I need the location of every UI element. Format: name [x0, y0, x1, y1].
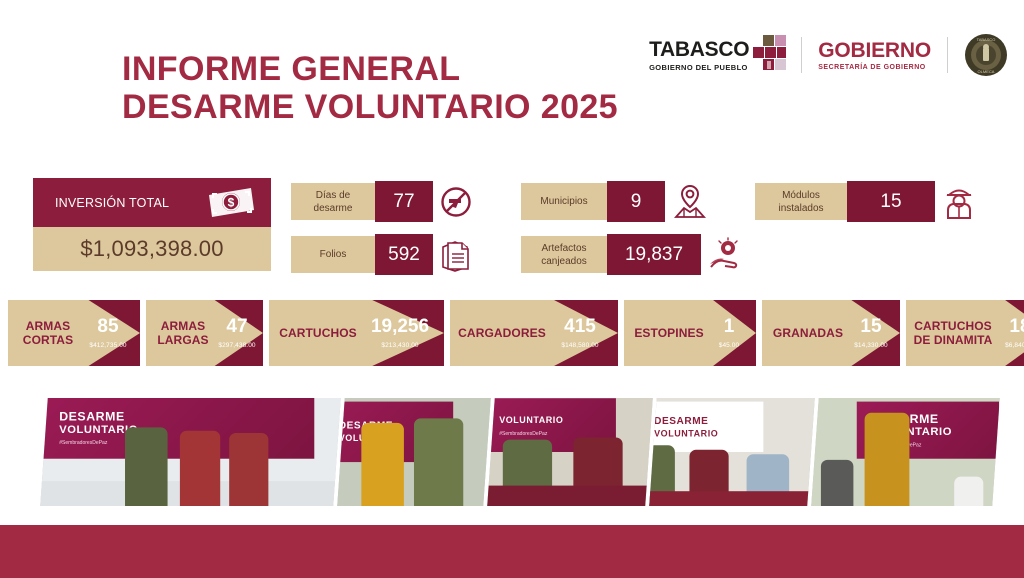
figure-worker-orange	[361, 423, 404, 506]
chart-amount: $297,438.00	[218, 342, 255, 349]
page-title: INFORME GENERAL DESARME VOLUNTARIO 2025	[122, 50, 618, 126]
chart-amount: $213,430.00	[381, 342, 418, 349]
chart-segment: CARTUCHOS 19,256 $213,430.00	[269, 300, 444, 366]
kpi-value: 9	[607, 181, 665, 222]
photo-mascot-module: DESARME VOLUNTARIO	[337, 398, 491, 506]
logo-bar: TABASCO GOBIERNO DEL PUEBLO GOB	[649, 26, 1008, 84]
chart-amount: $14,330.00	[854, 342, 888, 349]
photo-banner: DESARME VOLUNTARIO #SembradoresDePaz	[40, 398, 315, 459]
table-surface	[487, 486, 653, 506]
gobierno-logo: GOBIERNO SECRETARÍA DE GOBIERNO	[802, 40, 947, 71]
weapons-chart: ARMAS CORTAS 85 $412,735.00 ARMAS LARGAS…	[8, 300, 1024, 366]
chart-value-group: 415 $148,580.00	[546, 317, 614, 349]
svg-text:$: $	[228, 195, 235, 209]
tabasco-logo-text: TABASCO GOBIERNO DEL PUEBLO	[649, 39, 749, 72]
chart-amount: $412,735.00	[89, 342, 126, 349]
chart-category-label: CARGADORES	[450, 326, 546, 340]
table-surface	[649, 491, 815, 506]
photo-cartridge-count: VOLUNTARIO #SembradoresDePaz	[487, 398, 653, 506]
figure-official-2	[230, 433, 269, 506]
chart-value: 18	[1009, 317, 1024, 337]
chart-value: 19,256	[371, 317, 429, 337]
kpi-value: 15	[847, 181, 935, 222]
title-line-1: INFORME GENERAL	[122, 50, 618, 88]
chart-segment: ESTOPINES 1 $45.00	[624, 300, 756, 366]
chart-value: 415	[564, 317, 596, 337]
kpi-label: Días de desarme	[291, 183, 375, 220]
kpi-municipios: Municipios 9	[521, 181, 708, 222]
chart-value-group: 19,256 $213,430.00	[359, 317, 441, 349]
infographic-page: INFORME GENERAL DESARME VOLUNTARIO 2025 …	[0, 0, 1024, 578]
gobierno-logo-sub: SECRETARÍA DE GOBIERNO	[818, 64, 925, 71]
chart-category-label: GRANADAS	[762, 326, 846, 340]
hand-exchange-icon	[708, 237, 742, 273]
money-bills-icon: $	[205, 186, 257, 220]
tabasco-logo: TABASCO GOBIERNO DEL PUEBLO	[649, 35, 801, 75]
chart-value: 85	[97, 317, 118, 337]
worker-icon	[942, 183, 976, 221]
photo-strip: DESARME VOLUNTARIO #SembradoresDePaz DES…	[44, 398, 996, 506]
banner-line-1: DESARME	[654, 414, 764, 427]
gobierno-logo-main: GOBIERNO	[818, 40, 931, 61]
chart-value-group: 47 $297,438.00	[214, 317, 260, 349]
chart-value-group: 85 $412,735.00	[82, 317, 134, 349]
kpi-label: Artefactos canjeados	[521, 236, 607, 273]
map-pin-icon	[672, 183, 708, 221]
chart-segment: CARTUCHOS DE DINAMITA 18 $6,840.00	[906, 300, 1024, 366]
chart-amount: $6,840.00	[1005, 342, 1024, 349]
investment-card: INVERSIÓN TOTAL $	[33, 178, 271, 271]
chart-value: 1	[724, 317, 735, 337]
chart-segment: GRANADAS 15 $14,330.00	[762, 300, 900, 366]
photo-ceremony-group: DESARME VOLUNTARIO #SembradoresDePaz	[40, 398, 340, 506]
kpi-modulos-instalados: Módulos instalados 15	[755, 181, 976, 222]
chart-category-label: ARMAS CORTAS	[8, 319, 82, 347]
investment-label: INVERSIÓN TOTAL	[55, 196, 169, 210]
tabasco-logo-sub: GOBIERNO DEL PUEBLO	[649, 63, 748, 72]
chart-segment: CARGADORES 415 $148,580.00	[450, 300, 618, 366]
investment-amount: $1,093,398.00	[80, 236, 223, 262]
figure-equipment	[820, 459, 852, 506]
tabasco-mosaic-icon	[753, 35, 787, 75]
svg-text:TABASCO: TABASCO	[977, 37, 996, 42]
figure-chair	[954, 476, 982, 506]
figure-official-1	[180, 430, 219, 506]
kpi-dias-desarme: Días de desarme 77	[291, 181, 472, 222]
chart-value-group: 18 $6,840.00	[994, 317, 1024, 349]
kpi-strip: INVERSIÓN TOTAL $	[0, 178, 1024, 278]
chart-value-group: 1 $45.00	[706, 317, 752, 349]
investment-header: INVERSIÓN TOTAL $	[33, 178, 271, 227]
kpi-value: 592	[375, 234, 433, 275]
kpi-folios: Folios 592	[291, 234, 474, 275]
figure-welder	[865, 413, 910, 506]
kpi-label: Módulos instalados	[755, 183, 847, 220]
title-line-2: DESARME VOLUNTARIO 2025	[122, 88, 618, 126]
figure-soldier	[125, 428, 168, 506]
chart-value: 47	[226, 317, 247, 337]
svg-text:OLMECA: OLMECA	[978, 69, 995, 74]
documents-icon	[440, 237, 474, 273]
banner-line-1: DESARME	[59, 410, 315, 423]
chart-category-label: CARTUCHOS DE DINAMITA	[906, 319, 994, 347]
kpi-label: Folios	[291, 236, 375, 273]
kpi-artefactos-canjeados: Artefactos canjeados 19,837	[521, 234, 742, 275]
chart-category-label: CARTUCHOS	[269, 326, 359, 340]
chart-segment: ARMAS LARGAS 47 $297,438.00	[146, 300, 263, 366]
no-gun-icon	[440, 186, 472, 218]
chart-amount: $45.00	[719, 342, 739, 349]
chart-segment: ARMAS CORTAS 85 $412,735.00	[8, 300, 140, 366]
kpi-value: 77	[375, 181, 433, 222]
chart-value: 15	[860, 317, 881, 337]
chart-amount: $148,580.00	[561, 342, 598, 349]
banner-line-3: #SembradoresDePaz	[499, 431, 616, 437]
kpi-label: Municipios	[521, 183, 607, 220]
investment-amount-box: $1,093,398.00	[33, 227, 271, 271]
photo-destruction-worker: DESARME VOLUNTARIO #SembradoresDePaz	[811, 398, 1000, 506]
figure-mascot	[414, 418, 463, 506]
photo-registration-desk: DESARME VOLUNTARIO	[649, 398, 815, 506]
footer-bar	[0, 525, 1024, 578]
chart-category-label: ESTOPINES	[624, 326, 706, 340]
kpi-value: 19,837	[607, 234, 701, 275]
chart-value-group: 15 $14,330.00	[846, 317, 896, 349]
banner-line-2: VOLUNTARIO	[654, 427, 764, 439]
tabasco-logo-main: TABASCO	[649, 39, 749, 60]
chart-category-label: ARMAS LARGAS	[146, 319, 214, 347]
olmeca-seal-icon: TABASCO OLMECA	[964, 33, 1008, 77]
banner-line-1: VOLUNTARIO	[499, 414, 616, 427]
logo-divider-2	[947, 37, 948, 73]
